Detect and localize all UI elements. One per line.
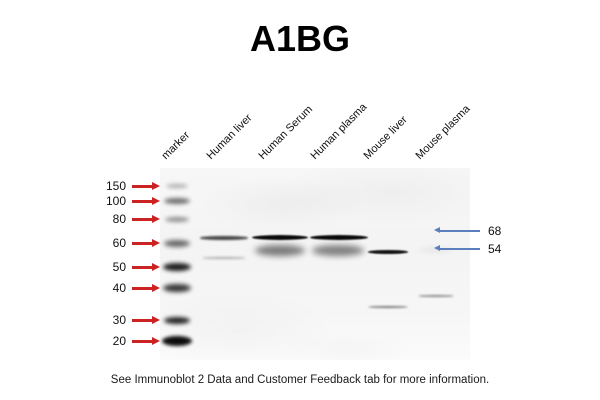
- lane-label-marker: marker: [160, 129, 193, 162]
- mw-marker-40: 40: [92, 281, 160, 295]
- blot-band: [166, 184, 188, 188]
- mw-marker-label: 40: [100, 281, 126, 295]
- mw-arrow-icon: [132, 181, 160, 191]
- figure-caption: See Immunoblot 2 Data and Customer Feedb…: [0, 374, 600, 386]
- mw-marker-label: 60: [100, 236, 126, 250]
- mw-arrow-icon: [132, 262, 160, 272]
- mw-arrow-icon: [132, 214, 160, 224]
- mw-arrow-icon: [132, 283, 160, 293]
- blot-band: [163, 263, 191, 271]
- mw-arrow-icon: [132, 336, 160, 346]
- blot-membrane: [160, 168, 470, 360]
- blot-band: [165, 217, 189, 222]
- lane-label-mouse-liver: Mouse liver: [362, 114, 410, 162]
- mw-marker-label: 30: [100, 313, 126, 327]
- annotation-arrow-icon: [434, 226, 480, 236]
- blot-band: [368, 306, 408, 308]
- mw-marker-50: 50: [92, 260, 160, 274]
- blot-band: [162, 336, 192, 346]
- lane-label-human-serum: Human Serum: [257, 103, 316, 162]
- mw-marker-label: 20: [100, 334, 126, 348]
- blot-band: [164, 198, 190, 204]
- mw-marker-label: 80: [100, 212, 126, 226]
- mw-arrow-icon: [132, 196, 160, 206]
- blot-band: [252, 235, 308, 240]
- mw-marker-label: 100: [100, 194, 126, 208]
- lane-label-mouse-plasma: Mouse plasma: [414, 103, 473, 162]
- page-title: A1BG: [0, 18, 600, 60]
- blot-band: [312, 245, 364, 256]
- mw-marker-150: 150: [92, 179, 160, 193]
- lane-label-human-liver: Human liver: [205, 112, 255, 162]
- mw-marker-80: 80: [92, 212, 160, 226]
- mw-arrow-icon: [132, 238, 160, 248]
- blot-band: [202, 257, 246, 260]
- band-annotation-label: 68: [488, 224, 501, 238]
- band-annotation-68: 68: [434, 224, 501, 238]
- mw-marker-label: 50: [100, 260, 126, 274]
- band-annotation-label: 54: [488, 242, 501, 256]
- mw-marker-label: 150: [100, 179, 126, 193]
- blot-band: [255, 245, 305, 256]
- mw-marker-30: 30: [92, 313, 160, 327]
- mw-marker-60: 60: [92, 236, 160, 250]
- mw-marker-100: 100: [92, 194, 160, 208]
- blot-band: [164, 240, 190, 247]
- blot-band: [164, 317, 190, 324]
- blot-band: [310, 235, 368, 240]
- blot-band: [368, 250, 408, 254]
- western-blot-figure: A1BG markerHuman liverHuman SerumHuman p…: [0, 0, 600, 400]
- mw-arrow-icon: [132, 315, 160, 325]
- blot-band: [163, 284, 191, 292]
- mw-marker-20: 20: [92, 334, 160, 348]
- blot-band: [418, 295, 454, 297]
- blot-band: [200, 236, 248, 239]
- band-annotation-54: 54: [434, 242, 501, 256]
- annotation-arrow-icon: [434, 244, 480, 254]
